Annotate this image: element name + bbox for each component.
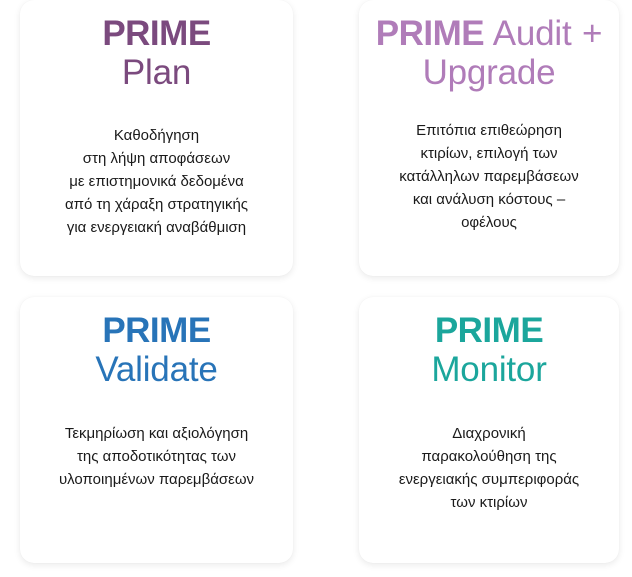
card-prime-plan[interactable]: PRIME Plan Καθοδήγηση στη λήψη αποφάσεων… <box>20 0 293 276</box>
card-heading-prime-validate: PRIME Validate <box>95 311 217 389</box>
brand-label-prime-monitor: PRIME <box>435 311 543 350</box>
suffix-label-prime-plan: Plan <box>122 53 191 92</box>
card-prime-validate[interactable]: PRIME Validate Τεκμηρίωση και αξιολόγηση… <box>20 297 293 563</box>
brand-label-prime-validate: PRIME <box>102 311 210 350</box>
card-description-prime-audit-upgrade: Επιτόπια επιθεώρηση κτιρίων, επιλογή των… <box>399 119 579 234</box>
brand-label-prime-plan: PRIME <box>102 14 210 53</box>
card-description-prime-monitor: Διαχρονική παρακολούθηση της ενεργειακής… <box>399 422 579 514</box>
brand-label-prime-audit-upgrade: PRIME <box>376 14 484 53</box>
card-prime-audit-upgrade[interactable]: PRIME Audit + Upgrade Επιτόπια επιθεώρησ… <box>359 0 619 276</box>
card-heading-prime-monitor: PRIME Monitor <box>431 311 546 389</box>
prime-services-card-grid: PRIME Plan Καθοδήγηση στη λήψη αποφάσεων… <box>0 0 632 577</box>
card-prime-monitor[interactable]: PRIME Monitor Διαχρονική παρακολούθηση τ… <box>359 297 619 563</box>
card-heading-prime-audit-upgrade: PRIME Audit + Upgrade <box>369 14 609 92</box>
card-description-prime-plan: Καθοδήγηση στη λήψη αποφάσεων με επιστημ… <box>65 124 248 239</box>
card-description-prime-validate: Τεκμηρίωση και αξιολόγηση της αποδοτικότ… <box>59 422 254 491</box>
suffix-label-prime-validate: Validate <box>95 350 217 389</box>
card-heading-prime-plan: PRIME Plan <box>102 14 210 92</box>
suffix-label-prime-monitor: Monitor <box>431 350 546 389</box>
